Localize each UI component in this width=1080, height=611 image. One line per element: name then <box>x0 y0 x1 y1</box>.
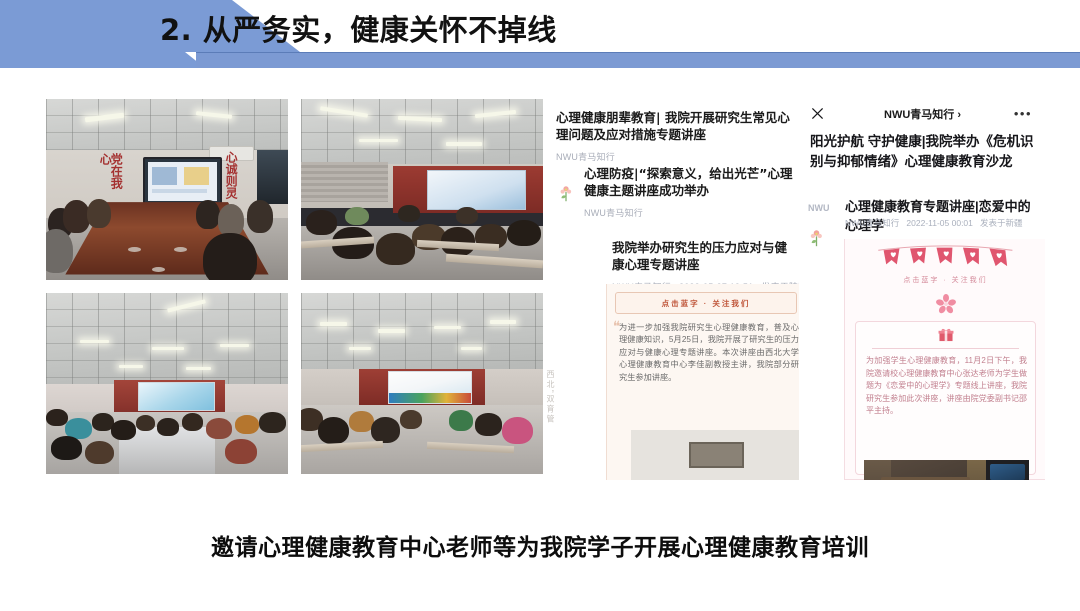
wechat-account-name[interactable]: NWU青马知行 › <box>800 106 1045 122</box>
wechat-top-bar: NWU青马知行 › ••• <box>800 99 1045 129</box>
photo-lecture-hall-2 <box>301 293 543 474</box>
wall-calligraphy-right: 心诚则灵 <box>225 151 236 200</box>
article-title: 心理防疫|“探索意义，给出光芒”心理健康主题讲座成功举办 <box>578 165 799 199</box>
article-card-2[interactable]: 心理防疫|“探索意义，给出光芒”心理健康主题讲座成功举办 NWU青马知行 <box>578 165 799 219</box>
follow-us-ribbon[interactable]: 点击蓝字 · 关注我们 <box>615 292 797 314</box>
vertical-faint-text: 西北“双育管 <box>544 370 556 480</box>
article-body-text: 为加强学生心理健康教育，11月2日下午，我院邀请校心理健康教育中心张达老师为学生… <box>866 355 1027 418</box>
article-date-2: 2022-11-05 00:01 <box>906 218 972 228</box>
gift-icon <box>938 328 953 342</box>
wechat-article-column-right: NWU青马知行 › ••• 阳光护航 守护健康|我院举办《危机识别与抑郁情绪》心… <box>800 99 1045 480</box>
wall-calligraphy-left: 党在我心 <box>99 153 121 200</box>
sakura-flower-icon <box>936 294 956 314</box>
audience <box>46 394 288 474</box>
article-location-2: 发表于新疆 <box>980 218 1023 228</box>
audience <box>301 186 543 280</box>
flower-icon <box>558 185 574 202</box>
page-title: 2. 从严务实，健康关怀不掉线 <box>160 4 557 52</box>
article-account-1: NWU <box>808 203 830 213</box>
photo-auditorium <box>46 293 288 474</box>
article-title-2[interactable]: 心理健康教育专题讲座|恋爱中的心理学 <box>845 197 1043 235</box>
slide-caption: 邀请心理健康教育中心老师等为我院学子开展心理健康教育培训 <box>0 528 1080 562</box>
header-blue-underbar <box>196 52 1080 68</box>
follow-us-text: 点击蓝字 · 关注我们 <box>845 275 1045 285</box>
participant-strip <box>986 460 1029 480</box>
ribbon-text: 点击蓝字 · 关注我们 <box>662 298 751 309</box>
slide-header: 2. 从严务实，健康关怀不掉线 <box>0 0 1080 68</box>
article-body-panel: 点击蓝字 · 关注我们 ❝ 为进一步加强我院研究生心理健康教育，普及心理健康知识… <box>606 284 799 480</box>
article-title: 我院举办研究生的压力应对与健康心理专题讲座 <box>606 239 799 273</box>
photo-lecture-hall-1 <box>301 99 543 280</box>
photo-grid: 党在我心 心诚则灵 <box>46 99 543 480</box>
article-title: 心理健康朋辈教育| 我院开展研究生常见心理问题及应对措施专题讲座 <box>556 109 799 143</box>
article-body-text: 为进一步加强我院研究生心理健康教育，普及心理健康知识，5月25日，我院开展了研究… <box>619 322 799 384</box>
article-byline-2: NWU青马知行 2022-11-05 00:01 发表于新疆 <box>845 217 1023 229</box>
wechat-article-column-middle: 心理健康朋辈教育| 我院开展研究生常见心理问题及应对措施专题讲座 NWU青马知行… <box>556 99 799 480</box>
slide-root: 2. 从严务实，健康关怀不掉线 党在我心 心诚则灵 <box>0 0 1080 611</box>
article-card-1[interactable]: 心理健康朋辈教育| 我院开展研究生常见心理问题及应对措施专题讲座 NWU青马知行 <box>556 109 799 163</box>
article-inline-photo <box>631 430 799 480</box>
ceiling <box>301 293 543 376</box>
photo-meeting-room: 党在我心 心诚则灵 <box>46 99 288 280</box>
article-account: NWU青马知行 <box>578 206 799 219</box>
article-account: NWU青马知行 <box>556 150 799 163</box>
header-blue-parallelogram-lower <box>0 52 205 68</box>
blackboard: 恋爱中的心理学 西北大学心理健康教育中心 <box>881 477 970 480</box>
article-body-panel: 点击蓝字 · 关注我们 为加强学生心理健康教育，11月2 <box>844 239 1045 480</box>
screen-content <box>148 162 217 201</box>
more-dots-icon[interactable]: ••• <box>1014 110 1032 118</box>
divider <box>872 348 1019 349</box>
screenshot-main-view: 恋爱中的心理学 西北大学心理健康教育中心 <box>864 460 986 480</box>
bunting-banner-icon <box>873 245 1018 275</box>
window <box>257 150 288 204</box>
article-account-2: NWU青马知行 <box>845 218 899 228</box>
display-screen <box>143 157 222 206</box>
article-inner-box: 为加强学生心理健康教育，11月2日下午，我院邀请校心理健康教育中心张达老师为学生… <box>855 321 1036 475</box>
article-title-1[interactable]: 阳光护航 守护健康|我院举办《危机识别与抑郁情绪》心理健康教育沙龙 <box>810 132 1037 172</box>
flower-icon <box>808 229 825 247</box>
audience <box>301 387 543 474</box>
meeting-screenshot: 恋爱中的心理学 西北大学心理健康教育中心 <box>864 460 1029 480</box>
